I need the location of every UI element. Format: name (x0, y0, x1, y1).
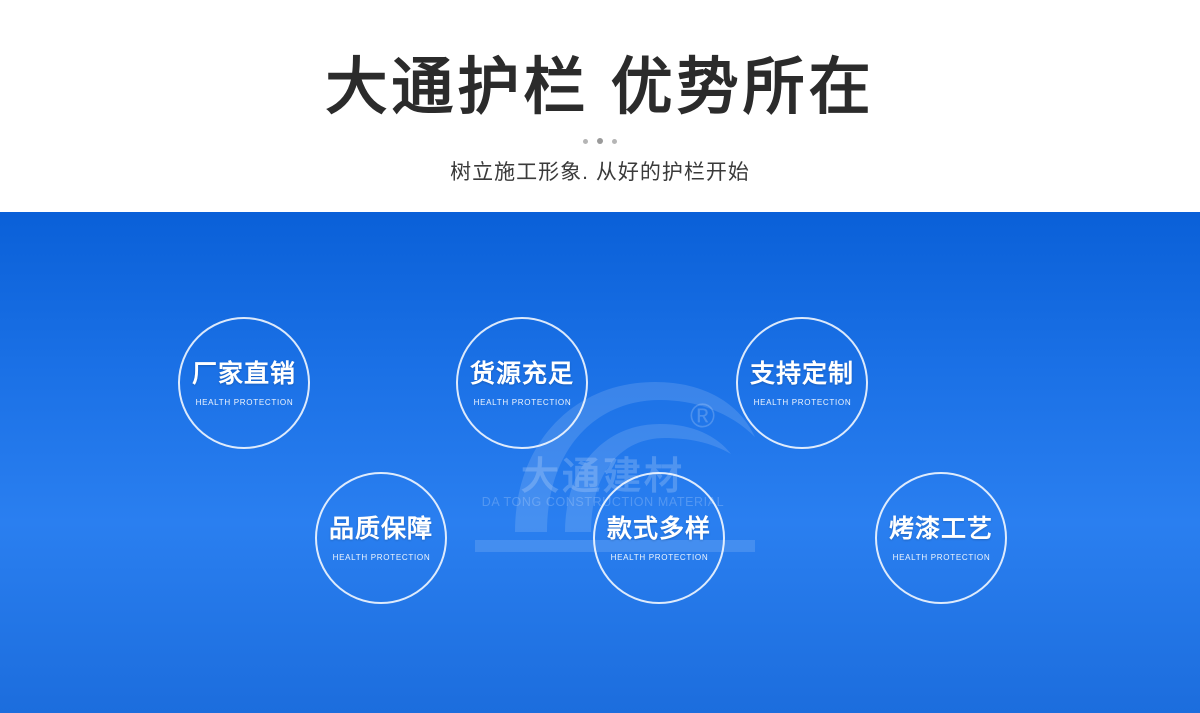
feature-sublabel: HEALTH PROTECTION (892, 552, 990, 562)
feature-sublabel: HEALTH PROTECTION (195, 397, 293, 407)
registered-mark: ® (690, 397, 715, 436)
feature-circle-2[interactable]: 货源充足 HEALTH PROTECTION (456, 317, 588, 449)
feature-label: 货源充足 (470, 359, 574, 389)
feature-circle-3[interactable]: 支持定制 HEALTH PROTECTION (736, 317, 868, 449)
feature-sublabel: HEALTH PROTECTION (610, 552, 708, 562)
feature-sublabel: HEALTH PROTECTION (332, 552, 430, 562)
feature-circle-5[interactable]: 款式多样 HEALTH PROTECTION (593, 472, 725, 604)
title-divider-dots (0, 136, 1200, 146)
feature-circle-4[interactable]: 品质保障 HEALTH PROTECTION (315, 472, 447, 604)
promo-banner: 大通护栏 优势所在 树立施工形象. 从好的护栏开始 ® 大通建材 DA TONG… (0, 0, 1200, 713)
feature-sublabel: HEALTH PROTECTION (473, 397, 571, 407)
divider-dot (612, 139, 617, 144)
divider-dot (583, 139, 588, 144)
feature-circle-1[interactable]: 厂家直销 HEALTH PROTECTION (178, 317, 310, 449)
feature-sublabel: HEALTH PROTECTION (753, 397, 851, 407)
features-panel: ® 大通建材 DA TONG CONSTRUCTION MATERIAL 厂家直… (0, 212, 1200, 713)
feature-label: 厂家直销 (192, 359, 296, 389)
feature-label: 品质保障 (329, 514, 433, 544)
page-subtitle: 树立施工形象. 从好的护栏开始 (0, 158, 1200, 188)
page-title: 大通护栏 优势所在 (0, 52, 1200, 124)
divider-dot (597, 138, 603, 144)
banner-header: 大通护栏 优势所在 树立施工形象. 从好的护栏开始 (0, 0, 1200, 212)
feature-label: 款式多样 (607, 514, 711, 544)
watermark-brand: 大通建材 (443, 445, 763, 500)
feature-label: 烤漆工艺 (889, 514, 993, 544)
feature-label: 支持定制 (750, 359, 854, 389)
feature-circle-6[interactable]: 烤漆工艺 HEALTH PROTECTION (875, 472, 1007, 604)
